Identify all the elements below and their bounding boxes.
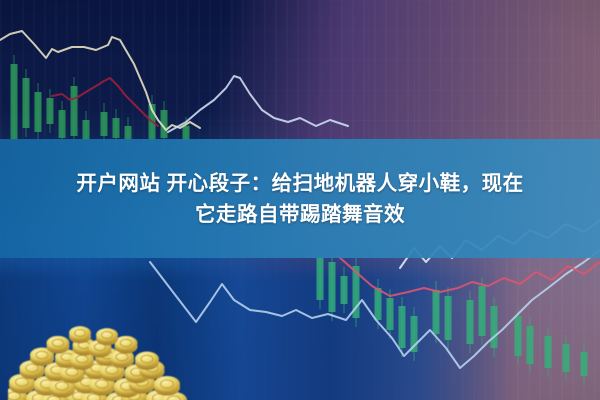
headline-line-1: 开户网站 开心段子：给扫地机器人穿小鞋，现在 <box>76 171 523 196</box>
gold-coins-pile <box>8 310 198 400</box>
banner-image: 开户网站 开心段子：给扫地机器人穿小鞋，现在 它走路自带踢踏舞音效 <box>0 0 600 400</box>
headline-line-2: 它走路自带踢踏舞音效 <box>195 202 405 227</box>
headline-text-block: 开户网站 开心段子：给扫地机器人穿小鞋，现在 它走路自带踢踏舞音效 <box>0 139 600 258</box>
